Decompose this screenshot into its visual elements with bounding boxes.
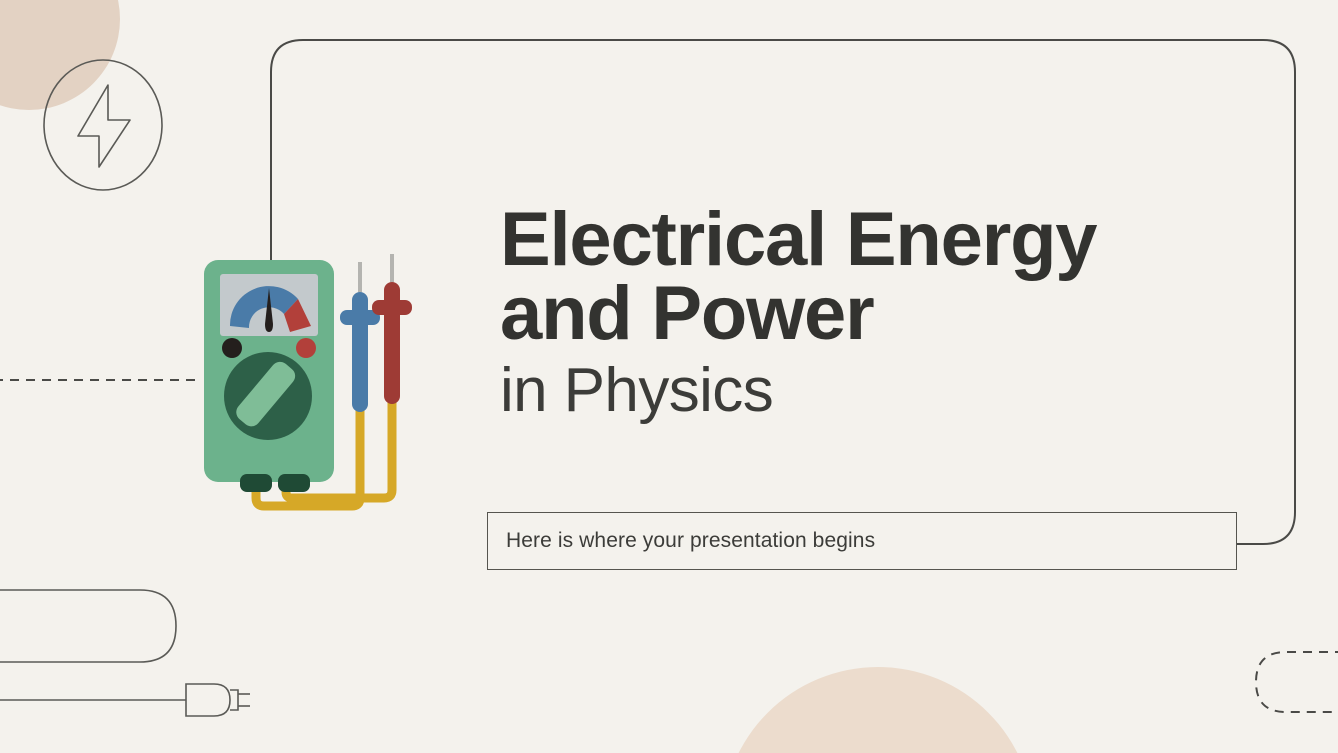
title-block: Electrical Energyand Power in Physics <box>500 203 1240 422</box>
beige-circle-bottom <box>722 667 1034 753</box>
dashed-rounded-shape <box>1256 652 1338 712</box>
lightning-bolt-badge <box>42 58 164 192</box>
port-left <box>240 474 272 492</box>
title-line-2: and Power <box>500 271 874 356</box>
indicator-dot-dark <box>222 338 242 358</box>
subtitle-box[interactable]: Here is where your presentation begins <box>487 512 1237 570</box>
lightning-bolt-icon <box>42 58 164 192</box>
page-title: Electrical Energyand Power <box>500 203 1240 352</box>
probe-red <box>372 254 412 404</box>
rounded-cable-shape <box>0 590 176 662</box>
presentation-slide: Electrical Energyand Power in Physics He… <box>0 0 1338 753</box>
power-plug-icon <box>186 684 250 716</box>
indicator-dot-red <box>296 338 316 358</box>
title-line-1: Electrical Energy <box>500 197 1096 282</box>
analog-multimeter-illustration <box>178 248 418 523</box>
probe-blue <box>340 262 380 412</box>
subtitle-text: Here is where your presentation begins <box>488 529 875 553</box>
page-subtitle-line: in Physics <box>500 360 1240 422</box>
port-right <box>278 474 310 492</box>
